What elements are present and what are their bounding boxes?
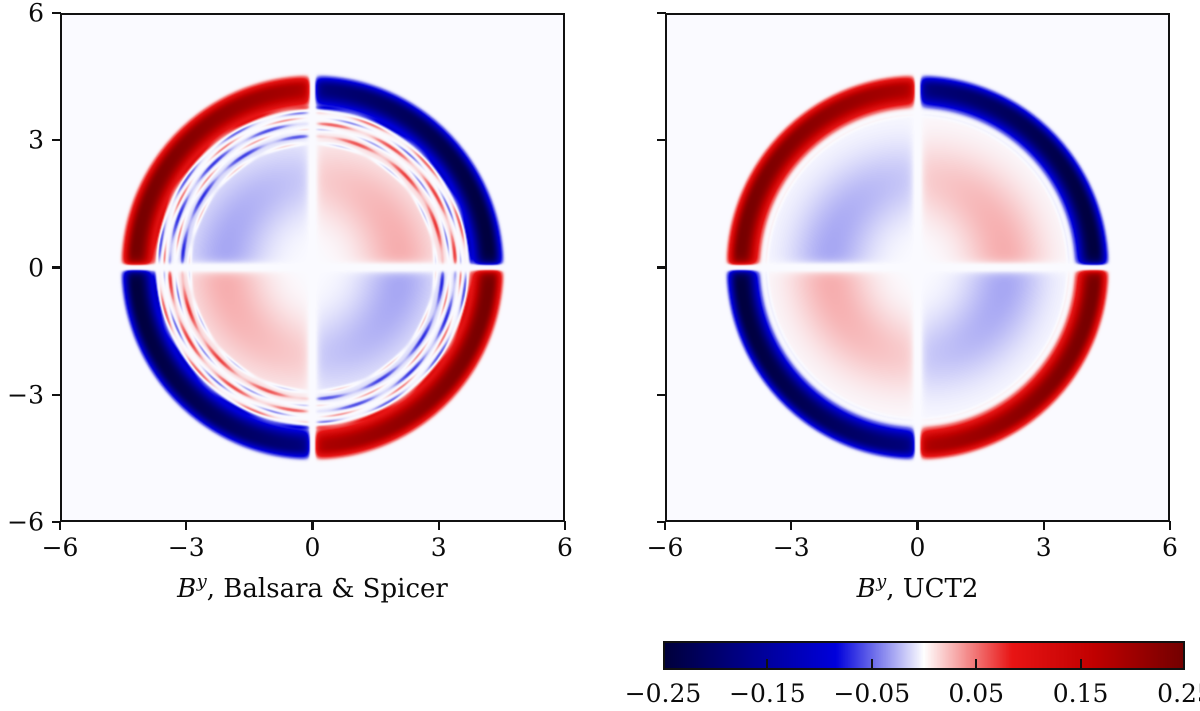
y-tick-left-3 <box>52 139 61 141</box>
colorbar <box>663 641 1185 670</box>
plot-panel-left <box>60 13 565 522</box>
x-tick-left-4 <box>564 521 566 530</box>
colorbar-gradient <box>663 641 1185 670</box>
axes-frame-right <box>665 13 1170 522</box>
y-tick-left-4 <box>52 12 61 14</box>
x-tick-right-1 <box>790 521 792 530</box>
colorbar-tick-2 <box>871 659 873 668</box>
y-tick-right-1 <box>657 394 666 396</box>
y-tick-right-3 <box>657 139 666 141</box>
y-tick-right-0 <box>657 521 666 523</box>
axes-frame-left <box>60 13 565 522</box>
x-tick-right-2 <box>916 521 918 530</box>
x-tick-label-right-3: 3 <box>1036 535 1052 560</box>
colorbar-tick-3 <box>975 659 977 668</box>
x-tick-label-right-1: −3 <box>773 535 810 560</box>
y-tick-label-left-0: −6 <box>0 510 44 535</box>
figure-canvas: −6−3036−6−3036By, Balsara & Spicer−6−303… <box>0 0 1200 711</box>
x-tick-label-left-4: 6 <box>557 535 573 560</box>
y-tick-left-1 <box>52 394 61 396</box>
y-tick-label-left-2: 0 <box>0 255 44 280</box>
x-tick-label-right-4: 6 <box>1162 535 1178 560</box>
colorbar-tick-label-1: −0.15 <box>729 679 806 708</box>
x-tick-label-left-0: −6 <box>42 535 79 560</box>
x-tick-left-1 <box>185 521 187 530</box>
y-tick-label-left-4: 6 <box>0 1 44 26</box>
y-tick-right-2 <box>657 266 666 268</box>
y-tick-label-left-1: −3 <box>0 382 44 407</box>
colorbar-tick-label-2: −0.05 <box>833 679 910 708</box>
colorbar-tick-4 <box>1080 659 1082 668</box>
y-tick-left-2 <box>52 266 61 268</box>
colorbar-tick-label-0: −0.25 <box>625 679 702 708</box>
y-tick-label-left-3: 3 <box>0 128 44 153</box>
x-tick-right-4 <box>1169 521 1171 530</box>
x-tick-label-left-2: 0 <box>305 535 321 560</box>
y-tick-left-0 <box>52 521 61 523</box>
y-tick-right-4 <box>657 12 666 14</box>
colorbar-tick-label-4: 0.15 <box>1053 679 1109 708</box>
x-tick-left-3 <box>438 521 440 530</box>
colorbar-tick-label-5: 0.25 <box>1157 679 1200 708</box>
x-tick-label-left-3: 3 <box>431 535 447 560</box>
colorbar-tick-label-3: 0.05 <box>948 679 1004 708</box>
colorbar-tick-1 <box>766 659 768 668</box>
x-axis-label-left: By, Balsara & Spicer <box>177 574 448 604</box>
x-tick-left-2 <box>311 521 313 530</box>
heatmap-left <box>62 15 563 520</box>
x-axis-label-right: By, UCT2 <box>857 574 979 604</box>
x-tick-label-right-2: 0 <box>910 535 926 560</box>
plot-panel-right <box>665 13 1170 522</box>
x-tick-label-left-1: −3 <box>168 535 205 560</box>
x-tick-right-3 <box>1043 521 1045 530</box>
heatmap-right <box>667 15 1168 520</box>
x-tick-label-right-0: −6 <box>647 535 684 560</box>
